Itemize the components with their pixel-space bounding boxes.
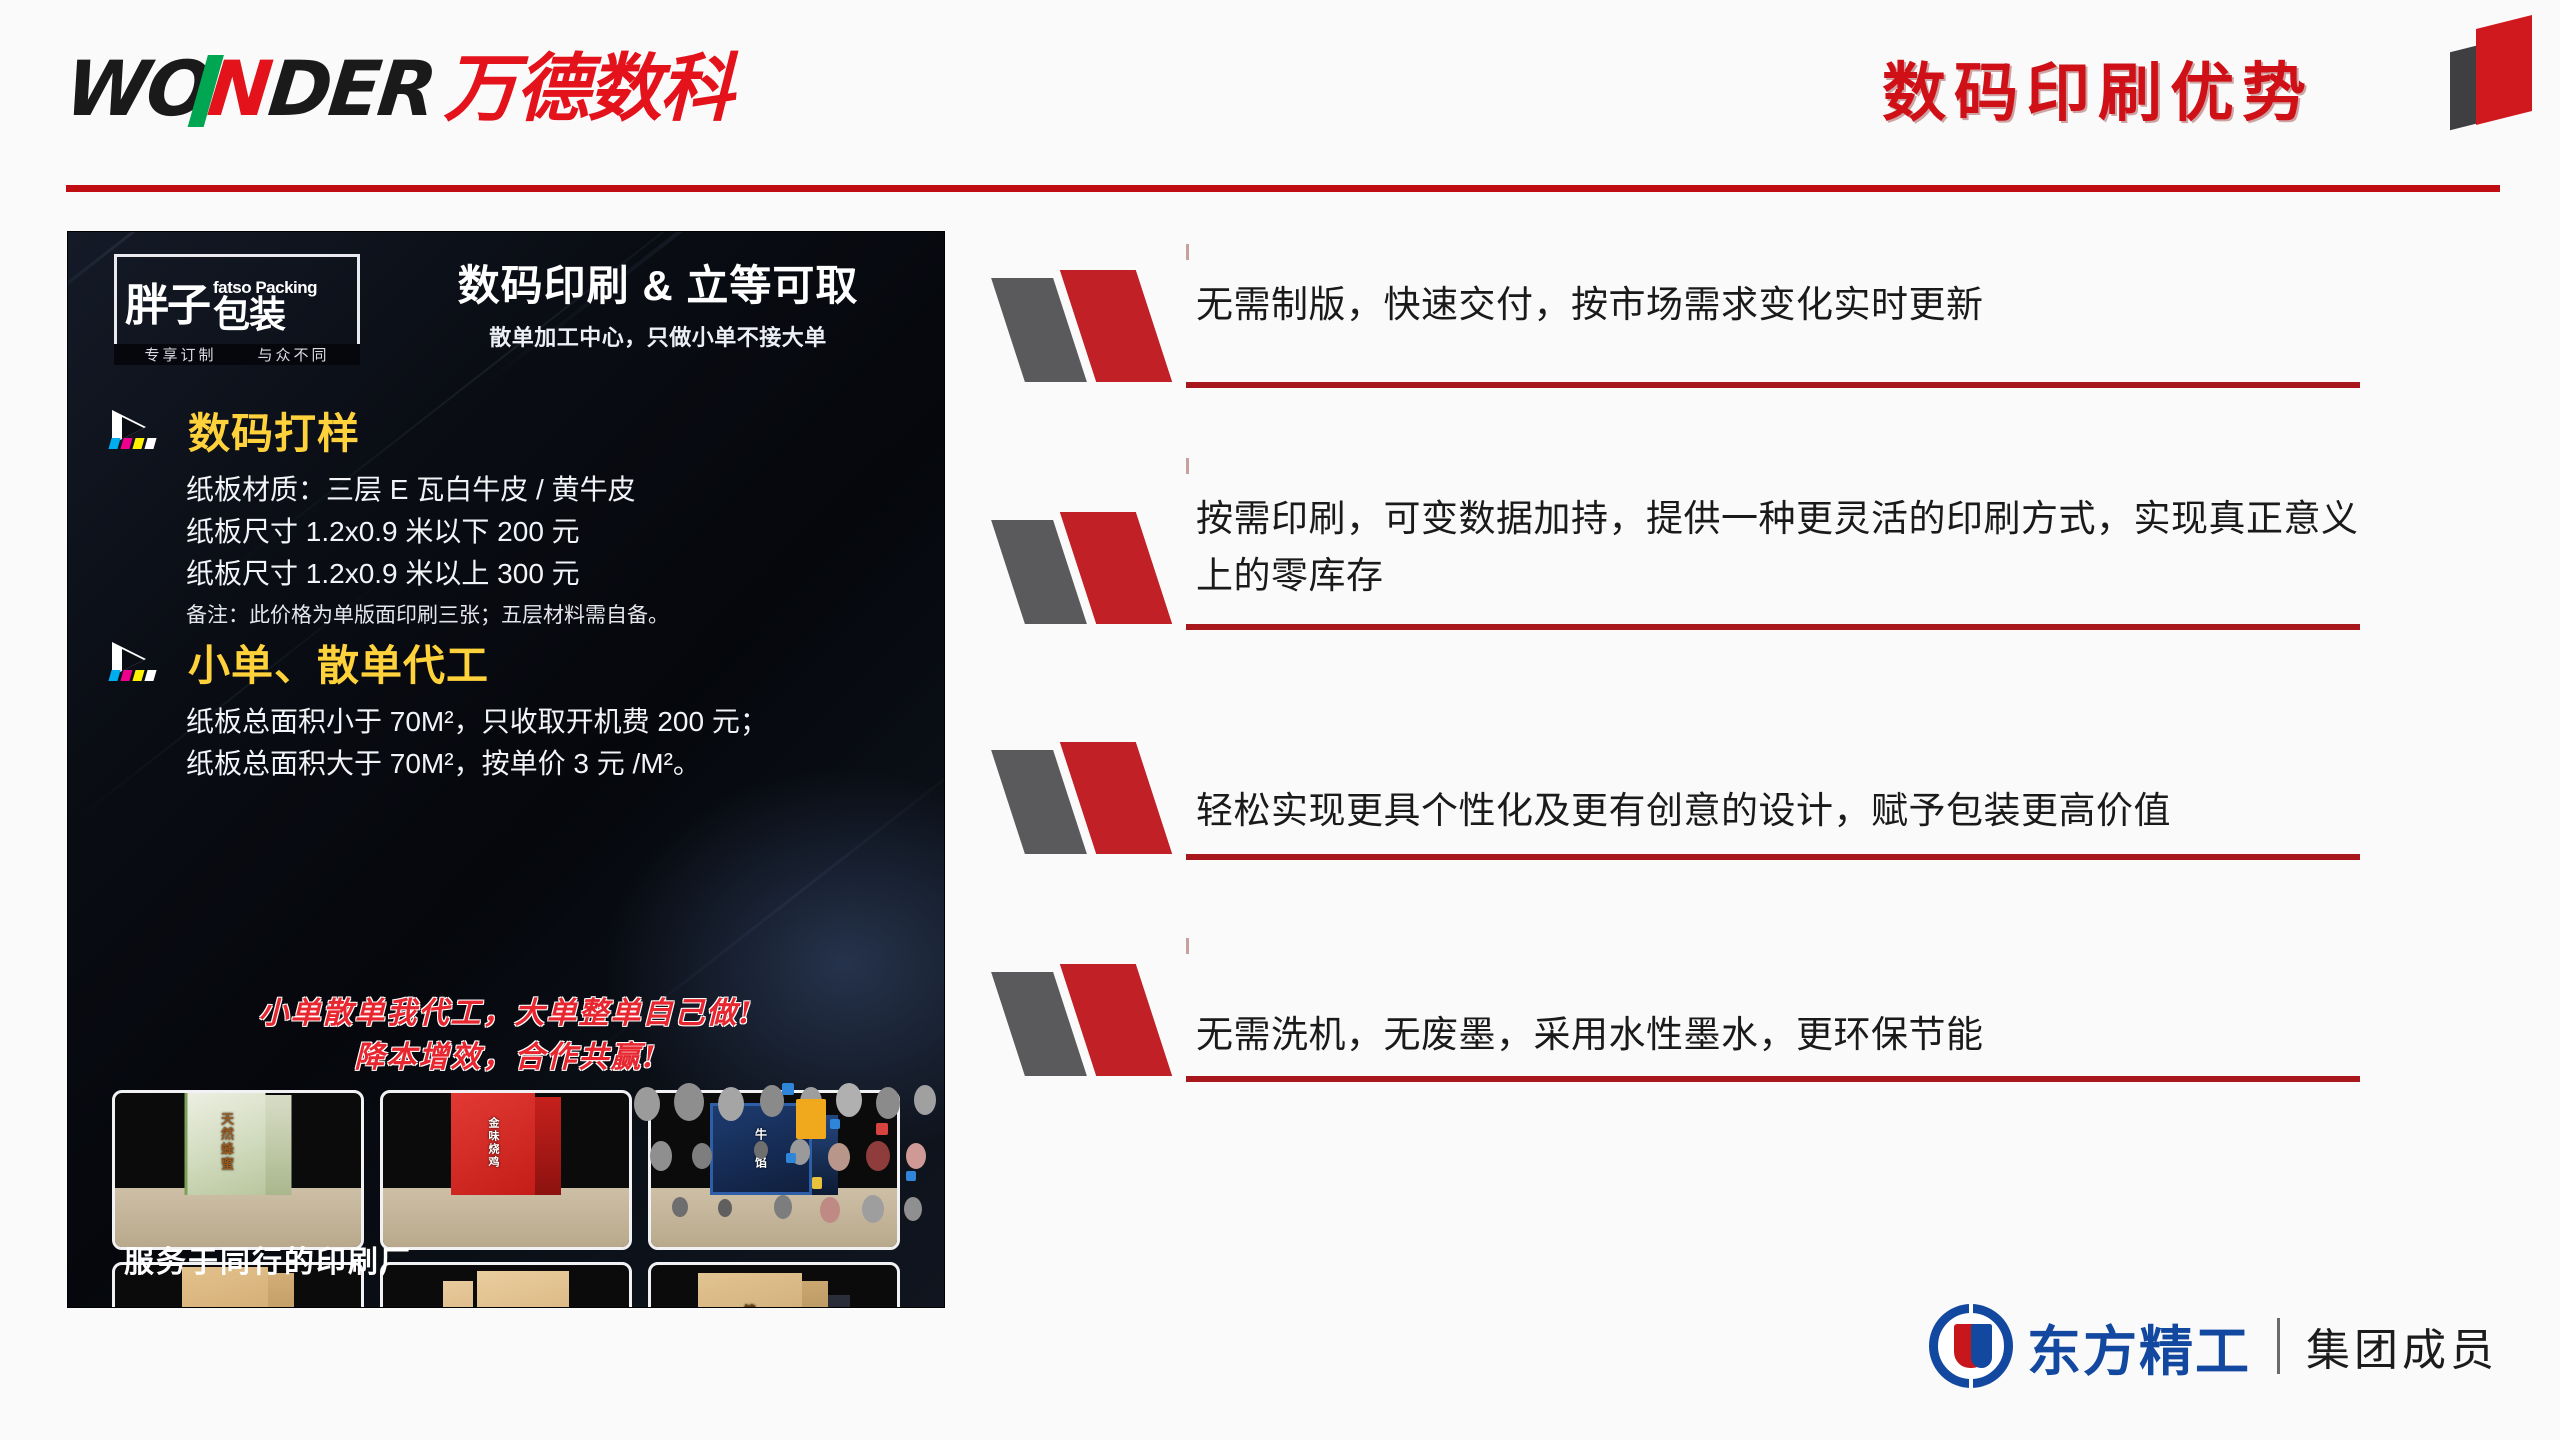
section-note: 备注：此价格为单版面印刷三张；五层材料需自备。 (186, 599, 908, 629)
bullet-marker-icon (1008, 270, 1186, 382)
brand-wonder-n: N (204, 51, 273, 127)
list-item[interactable]: 按需印刷，可变数据加持，提供一种更灵活的印刷方式，实现真正意义上的零库存 (1000, 484, 2360, 656)
poster-headline: 数码印刷 & 立等可取 (398, 262, 918, 310)
brand-logo-chinese: 万德数科 (444, 52, 732, 126)
poster-section-small-order-oem: 小单、散单代工 纸板总面积小于 70M²，只收取开机费 200 元； 纸板总面积… (108, 632, 908, 785)
bullet-marker-icon (1008, 512, 1186, 624)
fatso-logo-bao: 包装 (213, 296, 317, 333)
advantage-text: 按需印刷，可变数据加持，提供一种更灵活的印刷方式，实现真正意义上的零库存 (1196, 484, 2360, 605)
arrow-right-icon (108, 408, 172, 454)
footer-company-name: 东方精工 (2027, 1307, 2251, 1386)
fatso-logo-taglines: 专享订制 与众不同 (114, 344, 360, 365)
advantage-text: 轻松实现更具个性化及更有创意的设计，赋予包装更高价值 (1196, 742, 2360, 839)
photo-label: 天然蜂蜜 (188, 1090, 266, 1195)
dongfang-emblem-icon (1929, 1304, 2013, 1388)
section-title: 数码打样 (188, 400, 360, 461)
section-line: 纸板总面积小于 70M²，只收取开机费 200 元； (186, 701, 908, 743)
advantages-list: 无需制版，快速交付，按市场需求变化实时更新 按需印刷，可变数据加持，提供一种更灵… (1000, 270, 2360, 1178)
tick-mark (1186, 938, 1189, 954)
brand-logo-wonder: WONDER (62, 51, 438, 127)
fatso-logo-cn: 胖子 (125, 285, 209, 327)
tick-mark (1186, 458, 1189, 474)
poster-caption: 服务于同行的印刷厂 (124, 1237, 412, 1281)
footer-divider (2277, 1318, 2280, 1374)
section-title: 小单、散单代工 (188, 632, 489, 693)
promo-poster-image: 胖子 fatso Packing 包装 专享订制 与众不同 数码印刷 & 立等可… (68, 232, 944, 1307)
fatso-packing-logo: 胖子 fatso Packing 包装 (114, 254, 360, 358)
tick-mark (1186, 244, 1189, 260)
footer-branding: 东方精工 集团成员 (1929, 1304, 2498, 1388)
arrow-right-icon (108, 640, 172, 686)
slogan-line-1: 小单散单我代工，大单整单自己做! (68, 992, 944, 1036)
photo-label: 经典 (477, 1271, 569, 1307)
bullet-underline (1186, 624, 2360, 630)
product-photo: 经典 (380, 1262, 632, 1307)
bullet-underline (1186, 1076, 2360, 1082)
advantage-text: 无需洗机，无废墨，采用水性墨水，更环保节能 (1196, 964, 2360, 1063)
corner-decoration-icon (2446, 8, 2542, 126)
product-photo: 金味烧鸡 (380, 1090, 632, 1250)
header-divider (66, 185, 2500, 192)
tagline-left: 专享订制 (144, 344, 216, 365)
photo-label: 金味烧鸡 (451, 1091, 535, 1195)
bullet-underline (1186, 854, 2360, 860)
product-photo: 天然蜂蜜 (112, 1090, 364, 1250)
tagline-right: 与众不同 (257, 344, 329, 365)
list-item[interactable]: 无需洗机，无废墨，采用水性墨水，更环保节能 (1000, 964, 2360, 1094)
slide-root: WONDER 万德数科 数码印刷优势 胖子 fatso Packing 包装 (0, 0, 2560, 1440)
page-title: 数码印刷优势 (1882, 42, 2314, 134)
section-line: 纸板尺寸 1.2x0.9 米以上 300 元 (186, 553, 908, 595)
section-line: 纸板材质：三层 E 瓦白牛皮 / 黄牛皮 (186, 469, 908, 511)
poster-headline-block: 数码印刷 & 立等可取 散单加工中心，只做小单不接大单 (398, 262, 918, 352)
bullet-marker-icon (1008, 964, 1186, 1076)
footer-member-label: 集团成员 (2306, 1314, 2498, 1378)
list-item[interactable]: 无需制版，快速交付，按市场需求变化实时更新 (1000, 270, 2360, 400)
poster-header: 胖子 fatso Packing 包装 专享订制 与众不同 数码印刷 & 立等可… (68, 232, 944, 382)
section-line: 纸板尺寸 1.2x0.9 米以下 200 元 (186, 511, 908, 553)
halftone-dots-decoration (614, 1057, 944, 1307)
bullet-underline (1186, 382, 2360, 388)
section-line: 纸板总面积大于 70M²，按单价 3 元 /M²。 (186, 743, 908, 785)
brand-logo: WONDER 万德数科 (66, 46, 732, 132)
poster-section-digital-proofing: 数码打样 纸板材质：三层 E 瓦白牛皮 / 黄牛皮 纸板尺寸 1.2x0.9 米… (108, 400, 908, 629)
brand-wonder-post: DER (265, 51, 438, 127)
dongfang-logo: 东方精工 (1929, 1304, 2251, 1388)
bullet-marker-icon (1008, 742, 1186, 854)
list-item[interactable]: 轻松实现更具个性化及更有创意的设计，赋予包装更高价值 (1000, 742, 2360, 872)
poster-subheadline: 散单加工中心，只做小单不接大单 (398, 320, 918, 352)
advantage-text: 无需制版，快速交付，按市场需求变化实时更新 (1196, 270, 2360, 333)
